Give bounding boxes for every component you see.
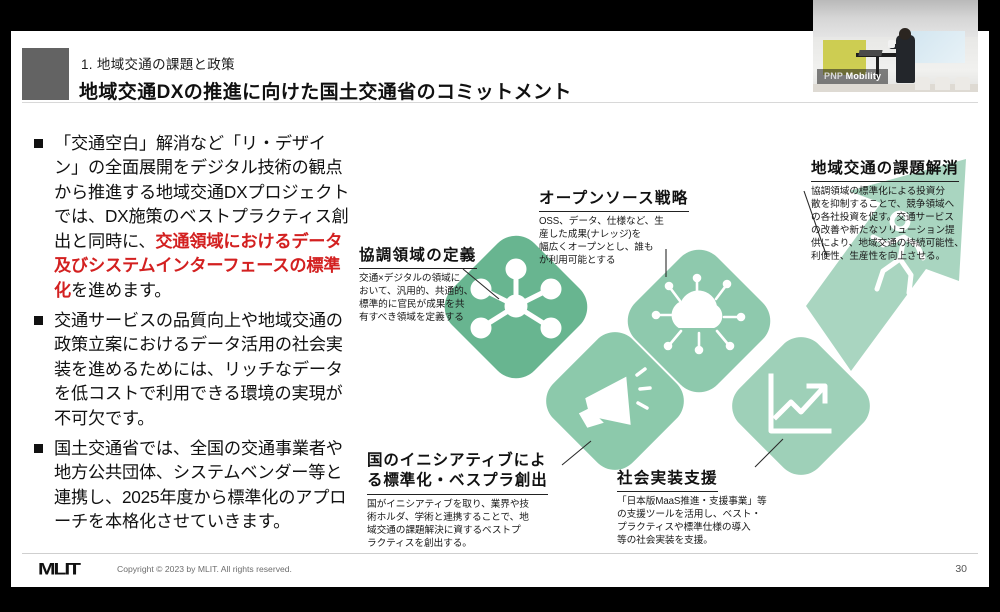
video-chair [915,77,930,90]
process-diagram: 協調領域の定義 交通×デジタルの領域に おいて、汎用的、共通的、 標準的に官民が… [11,31,989,587]
video-floor [813,84,978,92]
video-laptop [859,50,883,56]
callout-title: オープンソース戦略 [539,189,689,212]
presenter-video-overlay[interactable]: PNP Mobility [813,0,978,92]
mlit-logo: MLIT [38,560,79,579]
page-number: 30 [955,563,967,575]
callout-body: 交通×デジタルの領域に おいて、汎用的、共通的、 標準的に官民が成果を共 有すべ… [359,272,505,324]
video-microphone [888,40,895,47]
video-chair [955,77,970,90]
callout-open-source: オープンソース戦略 OSS、データ、仕様など、生 産した成果(ナレッジ)を 幅広… [539,189,704,267]
video-presenter-head [899,28,911,40]
badge-secondary-text: Mobility [846,71,882,81]
copyright-text: Copyright © 2023 by MLIT. All rights res… [117,564,292,574]
callout-kuni-initiative: 国のイニシアティブによ る標準化・ベスプラ創出 国がイニシアティブを取り、業界や… [367,451,563,550]
callout-shakai-jisso: 社会実装支援 「日本版MaaS推進・支援事業」等 の支援ツールを活用し、ベスト・… [617,469,795,547]
slide-canvas: 1. 地域交通の課題と政策 地域交通DXの推進に向けた国土交通省のコミットメント… [11,31,989,587]
footer-divider [22,553,978,554]
callout-kadai-kaisho: 地域交通の課題解消 協調領域の標準化による投資分 散を抑制することで、競争領域へ… [811,159,1000,263]
video-channel-badge: PNP Mobility [817,69,888,84]
video-chair [935,77,950,90]
badge-primary-text: PNP [824,71,843,81]
callout-title: 地域交通の課題解消 [811,159,959,182]
screen: 1. 地域交通の課題と政策 地域交通DXの推進に向けた国土交通省のコミットメント… [0,0,1000,612]
callout-title: 協調領域の定義 [359,246,477,269]
callout-body: 「日本版MaaS推進・支援事業」等 の支援ツールを活用し、ベスト・ プラクティス… [617,495,795,547]
video-presenter-body [896,35,916,83]
callout-kyochoryoiki: 協調領域の定義 交通×デジタルの領域に おいて、汎用的、共通的、 標準的に官民が… [359,246,505,324]
callout-body: 協調領域の標準化による投資分 散を抑制することで、競争領域へ の各社投資を促す。… [811,185,1000,263]
callout-body: OSS、データ、仕様など、生 産した成果(ナレッジ)を 幅広くオープンとし、誰も… [539,215,704,267]
callout-title: 社会実装支援 [617,469,718,492]
callout-title: 国のイニシアティブによ る標準化・ベスプラ創出 [367,451,548,495]
callout-body: 国がイニシアティブを取り、業界や技 術ホルダ、学術と連携することで、地 域交通の… [367,498,563,550]
